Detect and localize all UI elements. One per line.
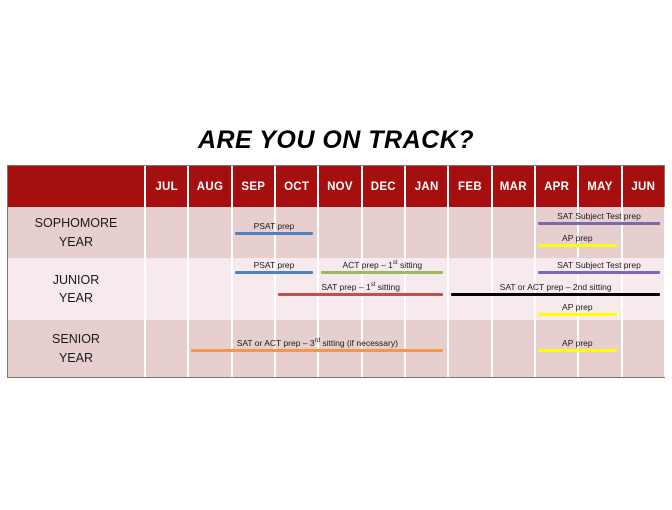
task-duration-bar xyxy=(235,232,314,235)
task-label: SAT Subject Test prep xyxy=(538,211,660,221)
header-month-jun: JUN xyxy=(621,166,664,207)
month-label: APR xyxy=(544,181,569,193)
grid-line xyxy=(144,207,146,258)
grid-line xyxy=(231,258,233,320)
task-label: ACT prep – 1st sitting xyxy=(321,260,443,270)
grid-line xyxy=(534,207,536,258)
row-label-line1: JUNIOR xyxy=(53,271,100,289)
row-label-line1: SOPHOMORE xyxy=(35,214,118,232)
task-duration-bar xyxy=(451,293,660,296)
task-bar-item[interactable]: PSAT prep xyxy=(235,221,314,235)
task-label: AP prep xyxy=(538,233,617,243)
task-duration-bar xyxy=(278,293,443,296)
page-title: ARE YOU ON TRACK? xyxy=(0,126,672,155)
grid-line xyxy=(664,207,666,258)
task-label: SAT or ACT prep – 3rd sitting (if necess… xyxy=(191,338,443,348)
grid-line xyxy=(187,320,189,377)
grid-line xyxy=(447,258,449,320)
row-label-sophomore: SOPHOMORE YEAR xyxy=(8,207,144,258)
month-label: JUL xyxy=(155,181,178,193)
row-label-junior: JUNIOR YEAR xyxy=(8,258,144,320)
row-label-line2: YEAR xyxy=(59,233,93,251)
task-duration-bar xyxy=(538,271,660,274)
task-bar-item[interactable]: AP prep xyxy=(538,233,617,247)
header-month-jan: JAN xyxy=(404,166,447,207)
month-label: SEP xyxy=(241,181,265,193)
grid-line xyxy=(447,207,449,258)
grid-line xyxy=(144,258,146,320)
month-label: MAR xyxy=(500,181,527,193)
task-duration-bar xyxy=(235,271,314,274)
grid-line xyxy=(144,320,146,377)
grid-line xyxy=(491,320,493,377)
row-label-line2: YEAR xyxy=(59,349,93,367)
grid-line xyxy=(187,207,189,258)
task-label: SAT or ACT prep – 2nd sitting xyxy=(451,282,660,292)
grid-line xyxy=(621,320,623,377)
grid-line xyxy=(491,207,493,258)
grid-line xyxy=(404,207,406,258)
task-duration-bar xyxy=(191,349,443,352)
ordinal-suffix: st xyxy=(393,260,398,266)
header-month-may: MAY xyxy=(577,166,620,207)
table-row: SOPHOMORE YEAR PSAT prepSAT Subject Test… xyxy=(8,207,664,258)
task-label: AP prep xyxy=(538,338,617,348)
task-bar-item[interactable]: SAT prep – 1st sitting xyxy=(278,282,443,296)
header-month-oct: OCT xyxy=(274,166,317,207)
grid-line xyxy=(664,320,666,377)
task-duration-bar xyxy=(321,271,443,274)
grid-line xyxy=(231,207,233,258)
grid-line xyxy=(534,320,536,377)
ordinal-suffix: rd xyxy=(315,338,320,344)
task-duration-bar xyxy=(538,222,660,225)
month-label: FEB xyxy=(458,181,482,193)
header-month-dec: DEC xyxy=(361,166,404,207)
grid-line xyxy=(361,207,363,258)
track-timeline-table: JULAUGSEPOCTNOVDECJANFEBMARAPRMAYJUN SOP… xyxy=(7,165,665,378)
month-label: JUN xyxy=(631,181,655,193)
task-label: PSAT prep xyxy=(235,260,314,270)
task-bar-item[interactable]: ACT prep – 1st sitting xyxy=(321,260,443,274)
month-label: MAY xyxy=(587,181,612,193)
row-label-line1: SENIOR xyxy=(52,330,100,348)
task-bar-item[interactable]: AP prep xyxy=(538,338,617,352)
ordinal-suffix: st xyxy=(371,282,376,288)
header-month-sep: SEP xyxy=(231,166,274,207)
month-label: JAN xyxy=(415,181,439,193)
task-label: SAT prep – 1st sitting xyxy=(278,282,443,292)
grid-line xyxy=(317,207,319,258)
grid-line xyxy=(447,320,449,377)
task-bar-item[interactable]: SAT or ACT prep – 3rd sitting (if necess… xyxy=(191,338,443,352)
task-bar-item[interactable]: AP prep xyxy=(538,302,617,316)
month-label: DEC xyxy=(371,181,396,193)
header-month-aug: AUG xyxy=(187,166,230,207)
row-label-senior: SENIOR YEAR xyxy=(8,320,144,377)
header-month-apr: APR xyxy=(534,166,577,207)
month-label: NOV xyxy=(327,181,353,193)
grid-line xyxy=(187,258,189,320)
month-label: AUG xyxy=(197,181,223,193)
task-label: PSAT prep xyxy=(235,221,314,231)
task-bar-item[interactable]: SAT Subject Test prep xyxy=(538,260,660,274)
task-label: AP prep xyxy=(538,302,617,312)
task-duration-bar xyxy=(538,244,617,247)
header-corner-cell xyxy=(8,166,144,207)
task-label: SAT Subject Test prep xyxy=(538,260,660,270)
task-bar-item[interactable]: SAT or ACT prep – 2nd sitting xyxy=(451,282,660,296)
task-bar-item[interactable]: SAT Subject Test prep xyxy=(538,211,660,225)
grid-line xyxy=(664,258,666,320)
task-duration-bar xyxy=(538,313,617,316)
task-duration-bar xyxy=(538,349,617,352)
header-month-nov: NOV xyxy=(317,166,360,207)
header-month-mar: MAR xyxy=(491,166,534,207)
header-month-jul: JUL xyxy=(144,166,187,207)
table-row: SENIOR YEAR SAT or ACT prep – 3rd sittin… xyxy=(8,320,664,377)
row-label-line2: YEAR xyxy=(59,289,93,307)
table-header-row: JULAUGSEPOCTNOVDECJANFEBMARAPRMAYJUN xyxy=(8,166,664,207)
month-label: OCT xyxy=(284,181,309,193)
table-row: JUNIOR YEAR PSAT prepACT prep – 1st sitt… xyxy=(8,258,664,320)
task-bar-item[interactable]: PSAT prep xyxy=(235,260,314,274)
header-month-feb: FEB xyxy=(447,166,490,207)
